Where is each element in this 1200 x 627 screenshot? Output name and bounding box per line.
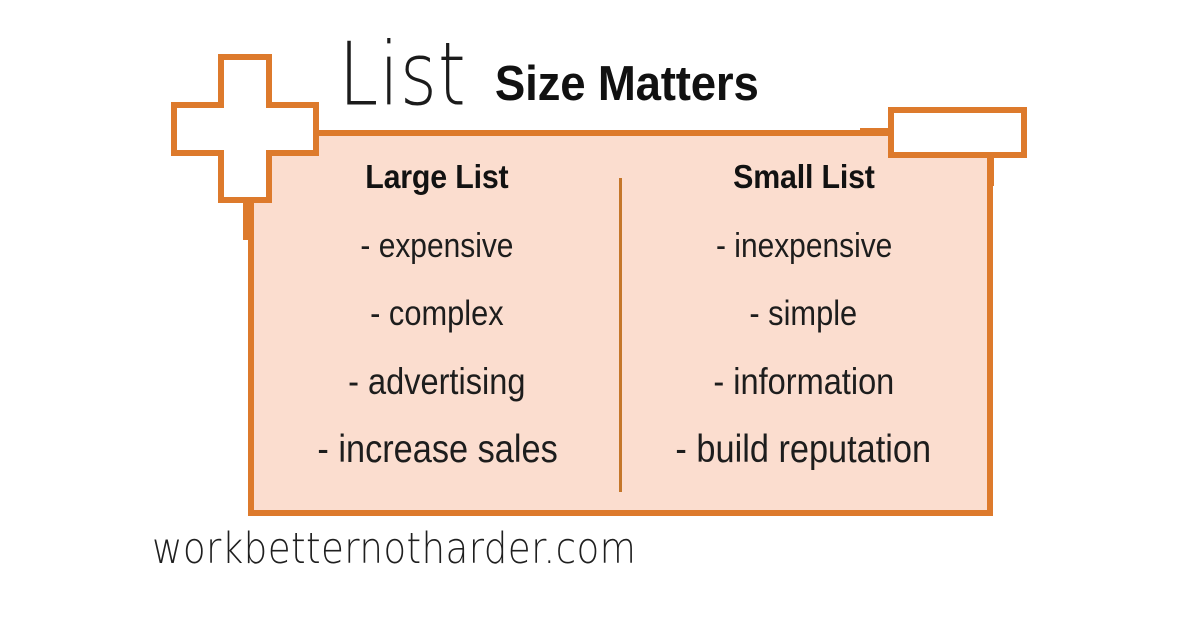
rectangle-badge bbox=[888, 107, 1027, 158]
column-header-large: Large List bbox=[366, 160, 509, 193]
column-header-small: Small List bbox=[733, 160, 875, 193]
list-item: - expensive bbox=[361, 229, 514, 263]
column-divider bbox=[619, 178, 622, 492]
infographic-canvas: List Size Matters Large List - expensive… bbox=[0, 0, 1200, 627]
title-bold-words: Size Matters bbox=[495, 60, 759, 109]
list-item: - complex bbox=[370, 296, 504, 331]
column-small-list: Small List - inexpensive - simple - info… bbox=[621, 136, 988, 510]
title-script-word: List bbox=[339, 31, 467, 118]
page-title: List Size Matters bbox=[336, 38, 769, 122]
list-item: - build reputation bbox=[676, 430, 932, 469]
plus-cross-icon bbox=[171, 54, 319, 203]
list-item: - advertising bbox=[349, 363, 526, 400]
list-item: - increase sales bbox=[317, 430, 557, 469]
footer-website: workbetternotharder.com bbox=[152, 527, 636, 570]
list-item: - simple bbox=[750, 296, 858, 331]
list-item: - inexpensive bbox=[716, 229, 892, 263]
list-item: - information bbox=[713, 363, 894, 400]
